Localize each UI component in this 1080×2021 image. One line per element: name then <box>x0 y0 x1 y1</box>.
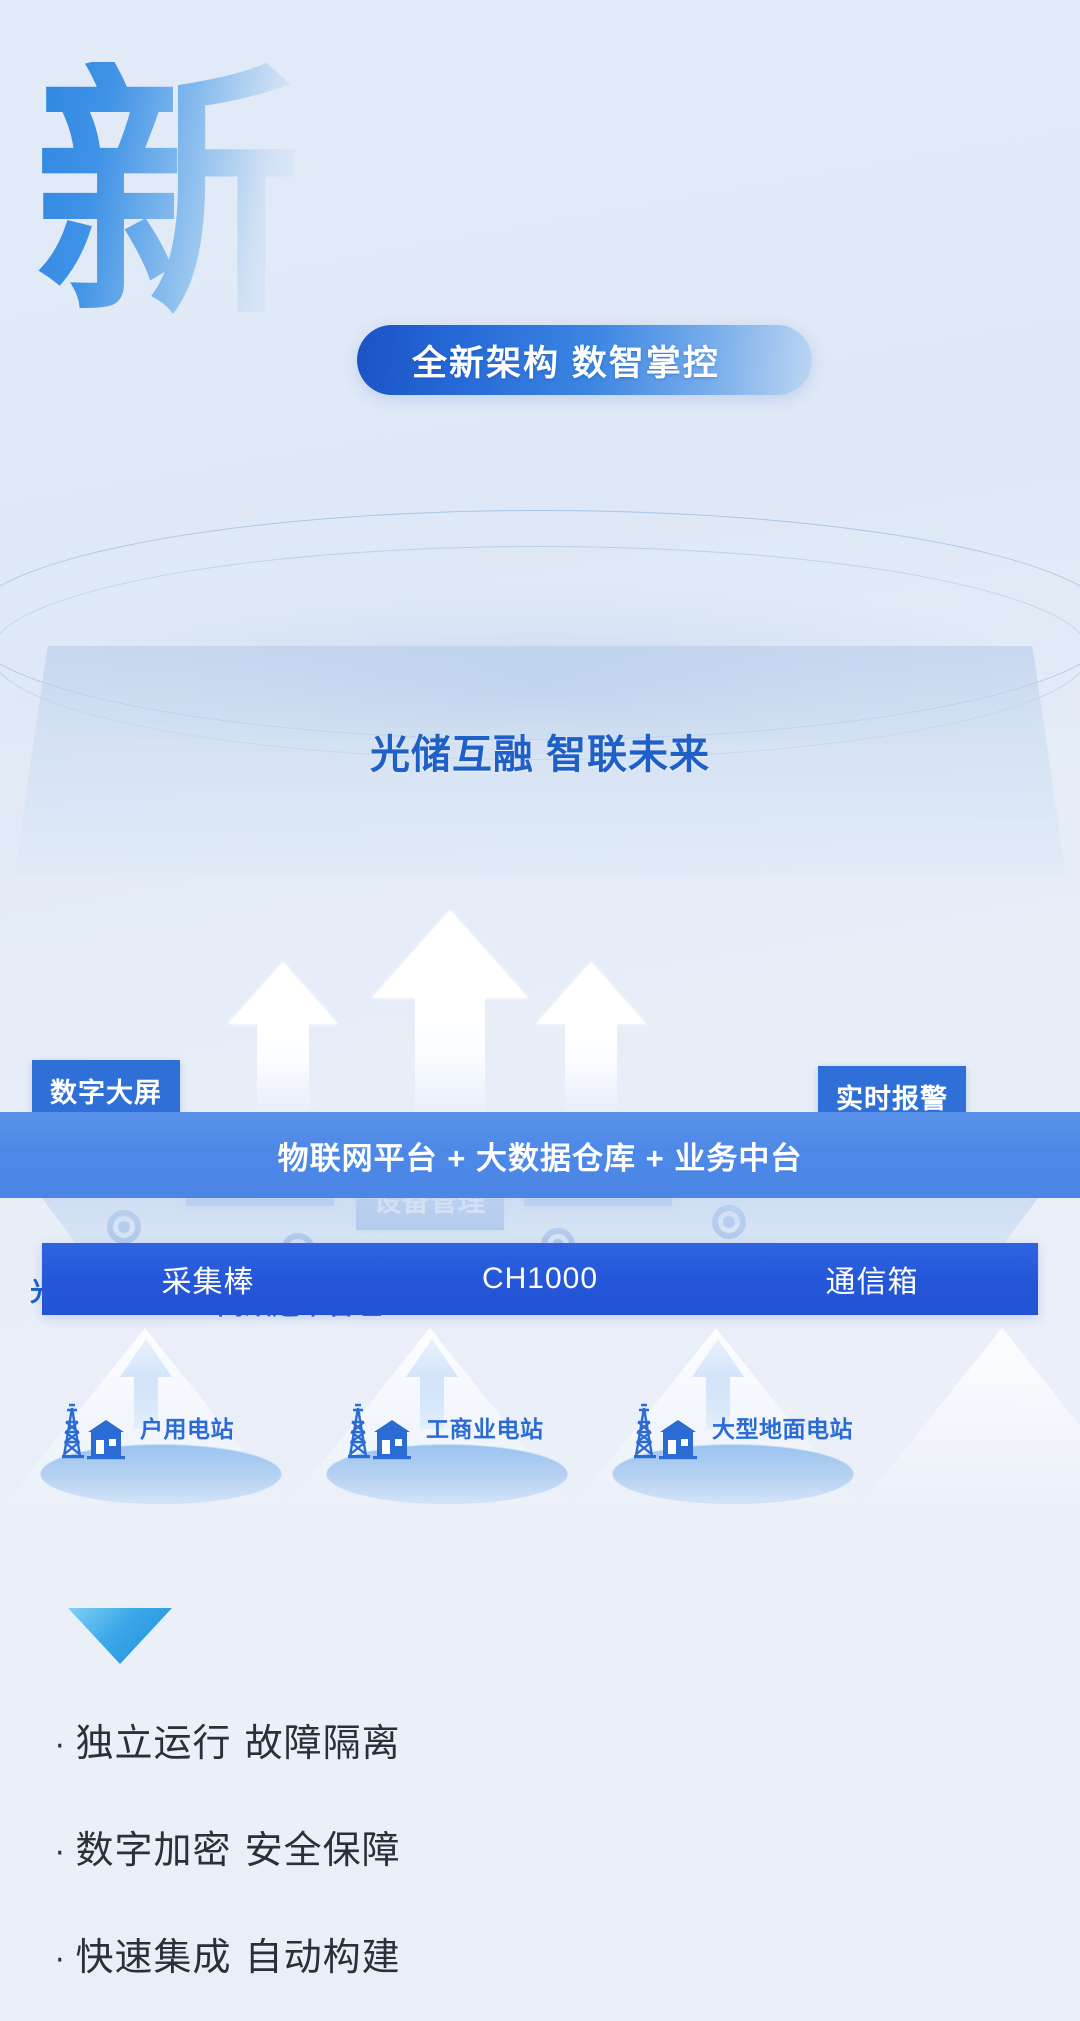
list-item: · 数字加密 安全保障 <box>55 1819 755 1874</box>
list-item: · 独立运行 故障隔离 <box>55 1712 755 1767</box>
bullet-text: 数字加密 安全保障 <box>76 1819 401 1874</box>
device-item-ch1000[interactable]: CH1000 <box>374 1262 706 1296</box>
bullet-text: 独立运行 故障隔离 <box>76 1712 401 1767</box>
device-item-comm-box[interactable]: 通信箱 <box>706 1257 1038 1301</box>
hero-banner-text: 全新架构 数智掌控 <box>412 335 720 386</box>
station-residential: 户用电站 <box>22 1400 322 1510</box>
poster-root: 新 全新架构 数智掌控 光储互融 智联未来 数字大屏 实时报警 集中监控 设备管… <box>0 0 1080 2021</box>
platform-bar: 物联网平台 + 大数据仓库 + 业务中台 <box>0 1112 1080 1198</box>
platform-stage: 光储互融 智联未来 数字大屏 实时报警 集中监控 设备管理 辅助运维 光储全场景… <box>0 500 1080 1100</box>
hero-banner: 全新架构 数智掌控 <box>357 325 812 395</box>
power-tower-house-icon <box>630 1402 706 1469</box>
stage-headline: 光储互融 智联未来 <box>0 722 1080 780</box>
bullet-list: · 独立运行 故障隔离 · 数字加密 安全保障 · 快速集成 自动构建 <box>55 1712 755 2021</box>
bullet-mark: · <box>55 1943 66 1978</box>
hero-kanji-new: 新 <box>34 62 298 330</box>
device-bar: 采集棒 CH1000 通信箱 <box>42 1243 1038 1315</box>
station-label: 大型地面电站 <box>712 1410 853 1444</box>
device-item-collector-stick[interactable]: 采集棒 <box>42 1257 374 1301</box>
bullet-text: 快速集成 自动构建 <box>76 1926 401 1981</box>
station-commercial: 工商业电站 <box>308 1400 608 1510</box>
bullet-mark: · <box>55 1836 66 1871</box>
light-cone-4 <box>862 1328 1080 1503</box>
bullet-mark: · <box>55 1729 66 1764</box>
station-label: 户用电站 <box>140 1410 234 1444</box>
station-utility: 大型地面电站 <box>594 1400 894 1510</box>
station-label: 工商业电站 <box>426 1410 544 1444</box>
power-tower-house-icon <box>344 1402 420 1469</box>
hero-section: 新 全新架构 数智掌控 <box>0 0 1080 430</box>
platform-bar-text: 物联网平台 + 大数据仓库 + 业务中台 <box>278 1133 803 1178</box>
down-triangle-icon <box>68 1608 172 1664</box>
list-item: · 快速集成 自动构建 <box>55 1926 755 1981</box>
power-tower-house-icon <box>58 1402 134 1469</box>
